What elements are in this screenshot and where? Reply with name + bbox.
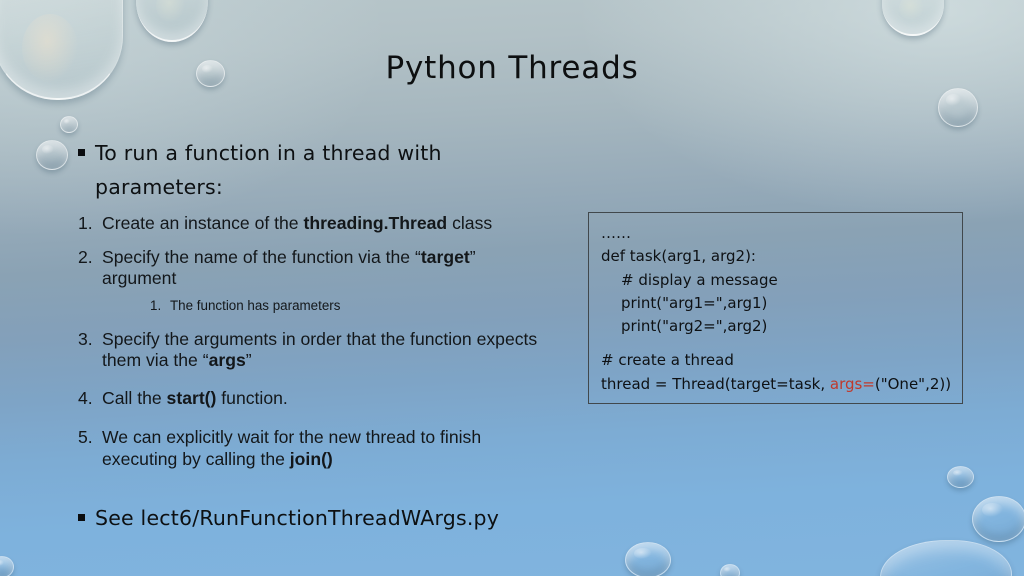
code-segment-args-keyword: args= (830, 375, 875, 393)
list-item: The function has parameters (150, 297, 548, 315)
water-droplet-icon (947, 466, 974, 488)
water-droplet-icon (60, 116, 78, 133)
code-line: print("arg1=",arg1) (601, 292, 950, 315)
step-3-text: Specify the arguments in order that the … (102, 329, 537, 371)
list-item: Call the start() function. (78, 388, 548, 410)
code-line-thread-constructor: thread = Thread(target=task, args=("One"… (601, 373, 950, 396)
lead-bullet-label: To run a function in a thread with param… (95, 136, 548, 204)
water-droplet-icon (625, 542, 671, 576)
code-line: # create a thread (601, 349, 950, 372)
code-line: # display a message (601, 269, 950, 292)
step-2-text: Specify the name of the function via the… (102, 247, 476, 289)
water-droplet-icon (880, 540, 1012, 576)
substep-label: The function has parameters (170, 298, 340, 313)
step-1-text: Create an instance of the threading.Thre… (102, 213, 492, 233)
water-droplet-icon (938, 88, 978, 127)
code-term-join: join() (290, 449, 333, 469)
code-term-target: target (421, 247, 470, 267)
water-droplet-icon (882, 0, 944, 36)
square-bullet-icon (78, 149, 85, 156)
closing-bullet-label: See lect6/RunFunctionThreadWArgs.py (95, 501, 548, 535)
slide-canvas: Python Threads To run a function in a th… (0, 0, 1024, 576)
code-term-start: start() (167, 388, 217, 408)
substeps-list: The function has parameters (102, 297, 548, 315)
water-droplet-icon (0, 556, 14, 576)
closing-bullet: See lect6/RunFunctionThreadWArgs.py (78, 501, 548, 535)
water-droplet-icon (36, 140, 68, 170)
step-5-text: We can explicitly wait for the new threa… (102, 427, 481, 469)
code-sample-box: …… def task(arg1, arg2): # display a mes… (588, 212, 963, 404)
steps-list: Create an instance of the threading.Thre… (78, 213, 548, 470)
page-title: Python Threads (0, 50, 1024, 86)
code-line: print("arg2=",arg2) (601, 315, 950, 338)
step-4-text: Call the start() function. (102, 388, 288, 408)
slide-body: To run a function in a thread with param… (78, 136, 548, 535)
water-droplet-icon (972, 496, 1024, 542)
code-line: …… (601, 222, 950, 245)
code-segment-prefix: thread = Thread(target=task, (601, 375, 830, 393)
code-term-threading-thread: threading.Thread (303, 213, 447, 233)
code-line-blank (601, 338, 950, 349)
list-item: Specify the name of the function via the… (78, 247, 548, 315)
code-term-args: args (209, 350, 246, 370)
square-bullet-icon (78, 514, 85, 521)
list-item: Create an instance of the threading.Thre… (78, 213, 548, 235)
water-droplet-icon (136, 0, 208, 42)
code-segment-suffix: ("One",2)) (875, 375, 951, 393)
list-item: Specify the arguments in order that the … (78, 329, 548, 372)
list-item: We can explicitly wait for the new threa… (78, 427, 548, 470)
water-droplet-icon (720, 564, 740, 576)
lead-bullet: To run a function in a thread with param… (78, 136, 548, 204)
code-line: def task(arg1, arg2): (601, 245, 950, 268)
